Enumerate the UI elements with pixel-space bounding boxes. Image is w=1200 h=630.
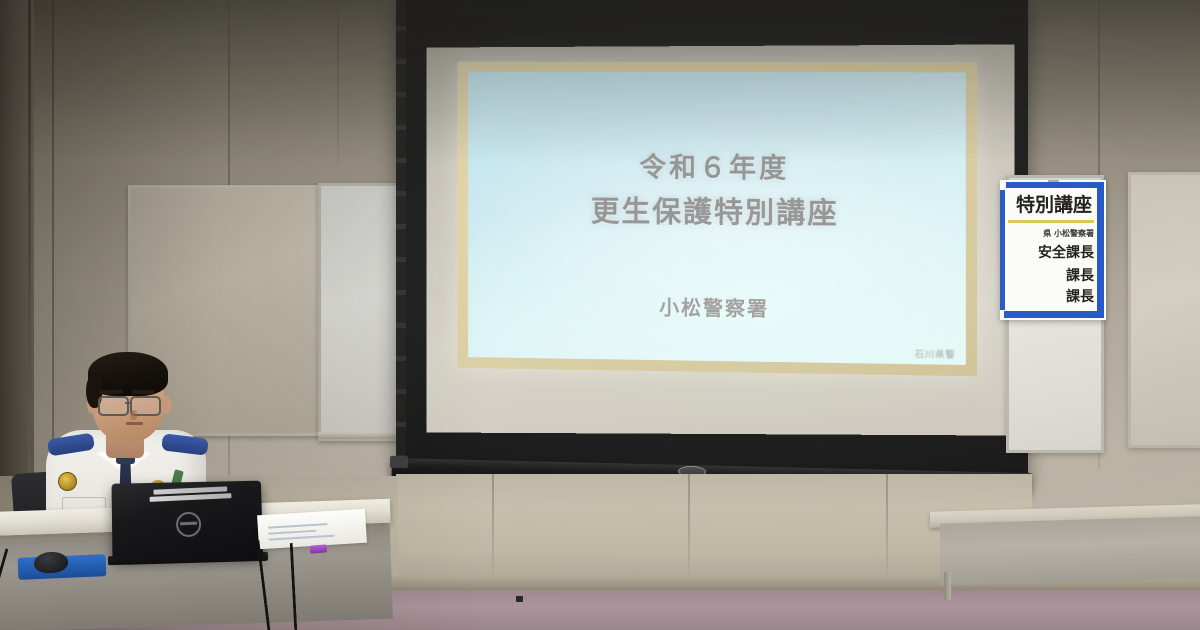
poster-line-2: 課長 <box>1066 265 1094 285</box>
laptop-lid <box>112 481 264 560</box>
cabinet-seam <box>492 474 494 582</box>
floor-marker <box>516 596 523 602</box>
screen-bar-end-cap <box>390 456 408 468</box>
projection-screen-assembly: 令和６年度 更生保護特別講座 小松警察署 石川県警 <box>396 0 1028 498</box>
purple-marker[interactable] <box>310 544 328 553</box>
officer-mouth <box>126 422 143 425</box>
officer-shoulder-badge <box>58 472 77 491</box>
slide-content-area: 令和６年度 更生保護特別講座 小松警察署 石川県警 <box>468 72 966 365</box>
poster-tape-top <box>1006 182 1104 188</box>
slide-title-line1: 令和６年度 <box>468 149 966 191</box>
paper-text-line <box>269 535 335 541</box>
officer-nose <box>130 410 137 420</box>
paper-text-line <box>268 530 316 535</box>
cabinet-seam <box>886 474 888 582</box>
dell-logo-icon <box>176 512 202 538</box>
projected-slide: 令和６年度 更生保護特別講座 小松警察署 石川県警 <box>457 62 977 377</box>
projection-screen-frame: 令和６年度 更生保護特別講座 小松警察署 石川県警 <box>396 0 1028 476</box>
slide-title: 令和６年度 更生保護特別講座 <box>468 149 966 236</box>
poster-tape-bottom <box>1004 311 1104 318</box>
poster-heading: 特別講座 <box>1000 190 1096 217</box>
poster-line-1: 安全課長 <box>1038 242 1094 262</box>
side-table-leg <box>944 572 951 600</box>
whiteboard-far-right <box>1128 172 1200 448</box>
officer-ear-right <box>161 396 172 414</box>
poster-line-3: 課長 <box>1066 286 1094 306</box>
photo-scene: 令和６年度 更生保護特別講座 小松警察署 石川県警 特別講座 県 小松警察署 <box>0 0 1200 630</box>
side-table-panel <box>940 516 1200 585</box>
slide-title-line2: 更生保護特別講座 <box>468 190 966 236</box>
poster-underline <box>1008 220 1094 223</box>
eyeglasses-bridge <box>125 402 132 404</box>
poster-tape-right <box>1097 188 1104 312</box>
slide-watermark: 石川県警 <box>915 347 956 361</box>
wall-poster: 特別講座 県 小松警察署 安全課長 課長 課長 <box>1000 180 1106 320</box>
paper-text-line <box>268 523 328 529</box>
projection-screen-surface: 令和６年度 更生保護特別講座 小松警察署 石川県警 <box>426 44 1014 435</box>
cabinet-seam <box>688 474 690 582</box>
laptop-asset-label-bottom <box>150 493 232 502</box>
wall-cabinet <box>396 474 1032 582</box>
slide-subtitle: 小松警察署 <box>468 289 966 325</box>
paper-documents[interactable] <box>257 509 367 550</box>
laptop[interactable] <box>112 482 262 568</box>
poster-subheading: 県 小松警察署 <box>1000 228 1094 239</box>
wall-seam <box>337 0 339 182</box>
eyeglasses-lens-left <box>98 396 129 416</box>
